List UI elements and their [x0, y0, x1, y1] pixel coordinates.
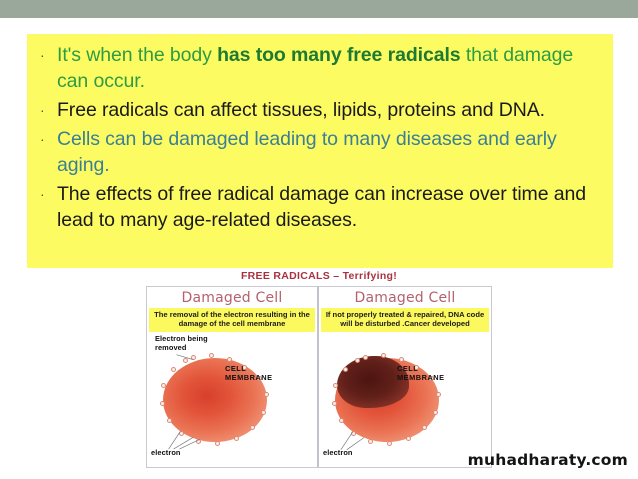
bullet-marker-icon: ·	[37, 97, 57, 123]
label-electron-being-removed: Electron being removed	[155, 334, 233, 352]
site-watermark: muhadharaty.com	[468, 451, 628, 469]
bullet-text: Cells can be damaged leading to many dis…	[57, 126, 599, 178]
content-text-box: · It's when the body has too many free r…	[27, 34, 613, 268]
diagram-panel-damaged-cell-right: Damaged Cell If not properly treated & r…	[319, 287, 491, 467]
list-item: · Free radicals can affect tissues, lipi…	[37, 97, 599, 123]
bullet-list: · It's when the body has too many free r…	[37, 42, 599, 233]
bullet-pre-text: It's when the body	[57, 44, 217, 66]
panel-callout-text: If not properly treated & repaired, DNA …	[321, 308, 489, 332]
label-electron: electron	[323, 448, 353, 457]
cell-illustration-area: Electron being removed CELL MEMBRANE ele…	[147, 332, 317, 460]
panel-callout-text: The removal of the electron resulting in…	[149, 308, 315, 332]
label-cell-membrane: CELL MEMBRANE	[225, 364, 281, 382]
list-item: · Cells can be damaged leading to many d…	[37, 126, 599, 178]
top-decorative-band	[0, 0, 638, 18]
bullet-text: Free radicals can affect tissues, lipids…	[57, 97, 599, 123]
diagram-title: FREE RADICALS – Terrifying!	[146, 270, 492, 282]
label-cell-membrane: CELL MEMBRANE	[397, 364, 453, 382]
leader-lines	[319, 332, 491, 460]
bullet-marker-icon: ·	[37, 42, 57, 68]
bullet-text: The effects of free radical damage can i…	[57, 181, 599, 233]
cell-illustration-area: CELL MEMBRANE electron	[319, 332, 491, 460]
free-radicals-diagram: FREE RADICALS – Terrifying! Damaged Cell…	[146, 270, 492, 470]
bullet-marker-icon: ·	[37, 126, 57, 152]
list-item: · It's when the body has too many free r…	[37, 42, 599, 94]
panel-heading: Damaged Cell	[147, 290, 317, 306]
bullet-text: It's when the body has too many free rad…	[57, 42, 599, 94]
label-electron: electron	[151, 448, 181, 457]
panel-heading: Damaged Cell	[319, 290, 491, 306]
diagram-panel-damaged-cell-left: Damaged Cell The removal of the electron…	[147, 287, 319, 467]
diagram-panels: Damaged Cell The removal of the electron…	[146, 286, 492, 468]
bullet-marker-icon: ·	[37, 181, 57, 207]
list-item: · The effects of free radical damage can…	[37, 181, 599, 233]
bullet-emphasis-text: has too many free radicals	[217, 44, 460, 66]
